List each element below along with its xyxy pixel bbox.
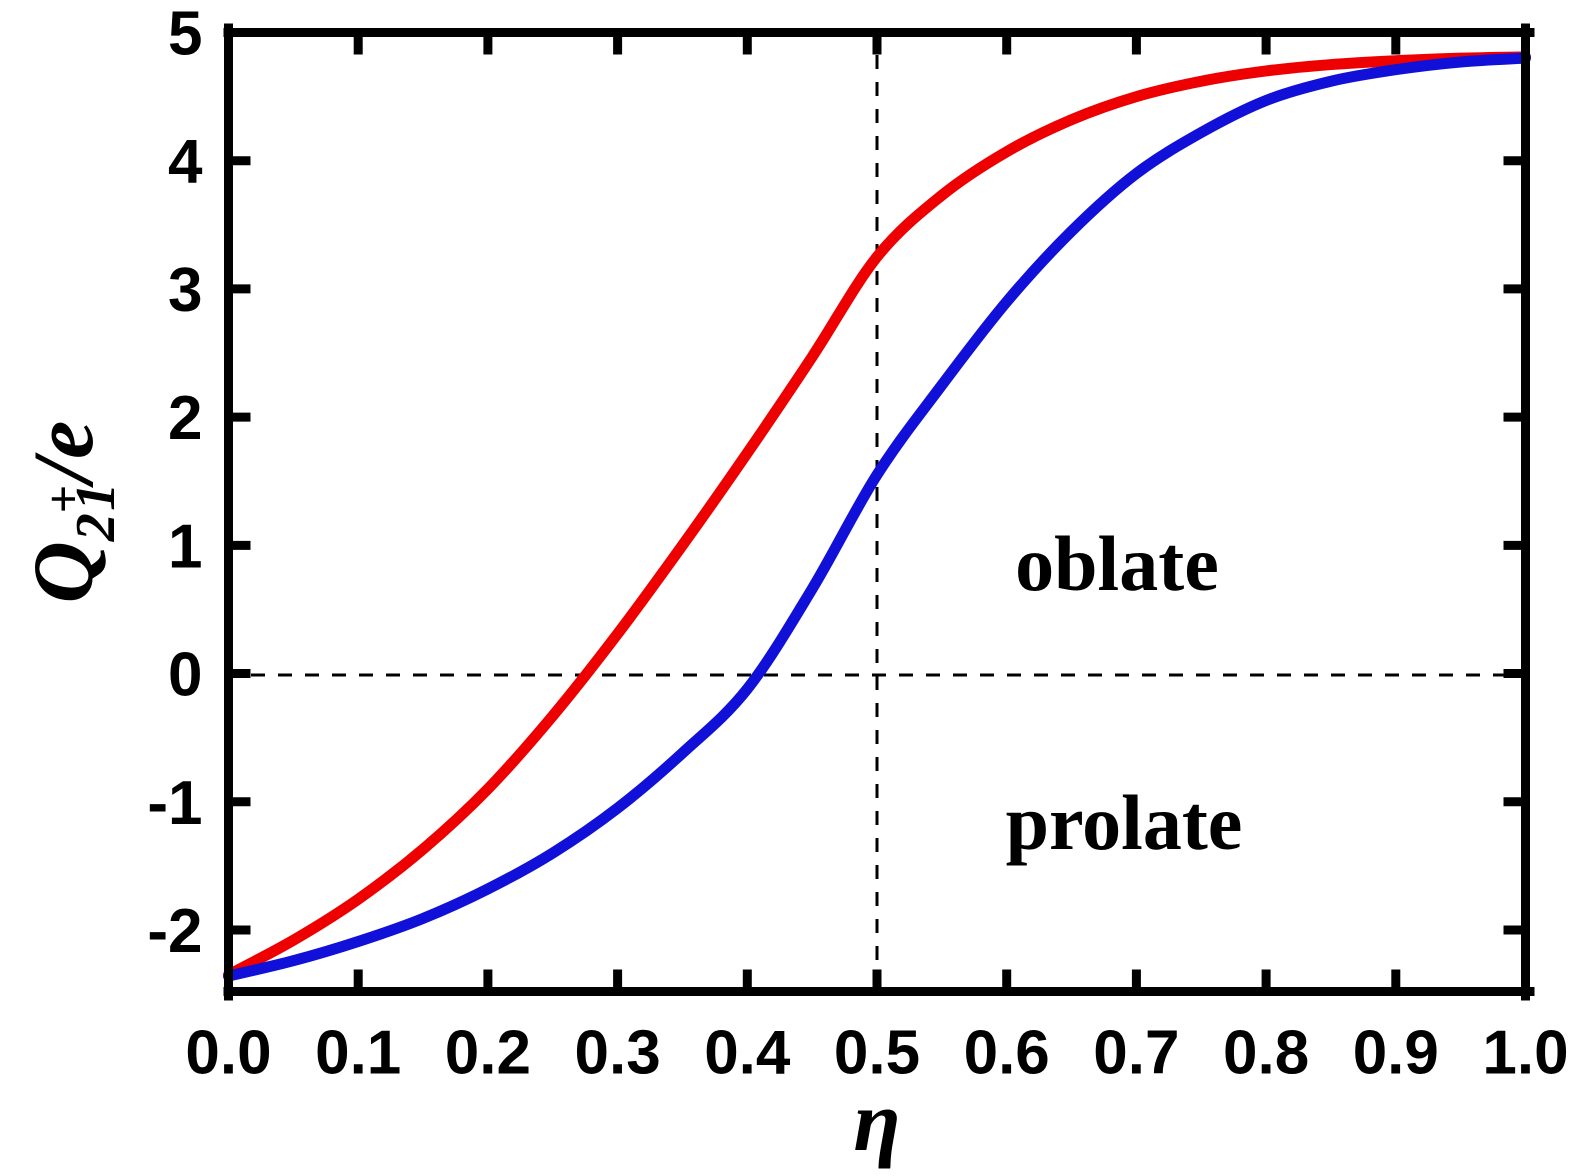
x-tick-label: 0.9 bbox=[1353, 1019, 1439, 1088]
y-tick-label: 4 bbox=[168, 128, 203, 197]
y-axis-title-tail: /e bbox=[15, 421, 111, 489]
chart-figure: 0.00.10.20.30.40.50.60.70.80.91.0 -2-101… bbox=[0, 0, 1578, 1176]
y-tick-label: -2 bbox=[147, 897, 202, 966]
x-tick-label: 0.7 bbox=[1093, 1019, 1179, 1088]
x-tick-label: 0.4 bbox=[704, 1019, 791, 1088]
y-tick-label: 5 bbox=[168, 0, 202, 69]
plot-canvas: 0.00.10.20.30.40.50.60.70.80.91.0 -2-101… bbox=[0, 0, 1578, 1176]
y-tick-label: 1 bbox=[168, 512, 202, 581]
y-axis-title-subsub: 1 bbox=[65, 483, 127, 511]
x-tick-label: 0.1 bbox=[315, 1019, 401, 1088]
y-tick-label: 3 bbox=[168, 256, 202, 325]
x-tick-label: 1.0 bbox=[1482, 1019, 1568, 1088]
x-tick-label: 0.2 bbox=[445, 1019, 531, 1088]
svg-text:Q2+1/e: Q2+1/e bbox=[15, 421, 127, 604]
y-tick-label: 0 bbox=[168, 641, 202, 710]
y-tick-label: -1 bbox=[147, 769, 202, 838]
x-tick-label: 0.6 bbox=[964, 1019, 1050, 1088]
x-tick-label: 0.0 bbox=[185, 1019, 271, 1088]
y-axis-title-sub: 2 bbox=[65, 513, 127, 542]
y-axis-title-main: Q bbox=[15, 541, 111, 603]
x-axis-title: η bbox=[853, 1073, 900, 1169]
oblate-label: oblate bbox=[1015, 520, 1219, 607]
y-tick-label: 2 bbox=[168, 384, 202, 453]
y-axis-tick-labels: -2-1012345 bbox=[147, 0, 203, 966]
prolate-label: prolate bbox=[1006, 779, 1243, 866]
y-axis-title: Q2+1/e bbox=[15, 421, 127, 604]
x-tick-label: 0.8 bbox=[1223, 1019, 1309, 1088]
x-tick-label: 0.3 bbox=[574, 1019, 660, 1088]
